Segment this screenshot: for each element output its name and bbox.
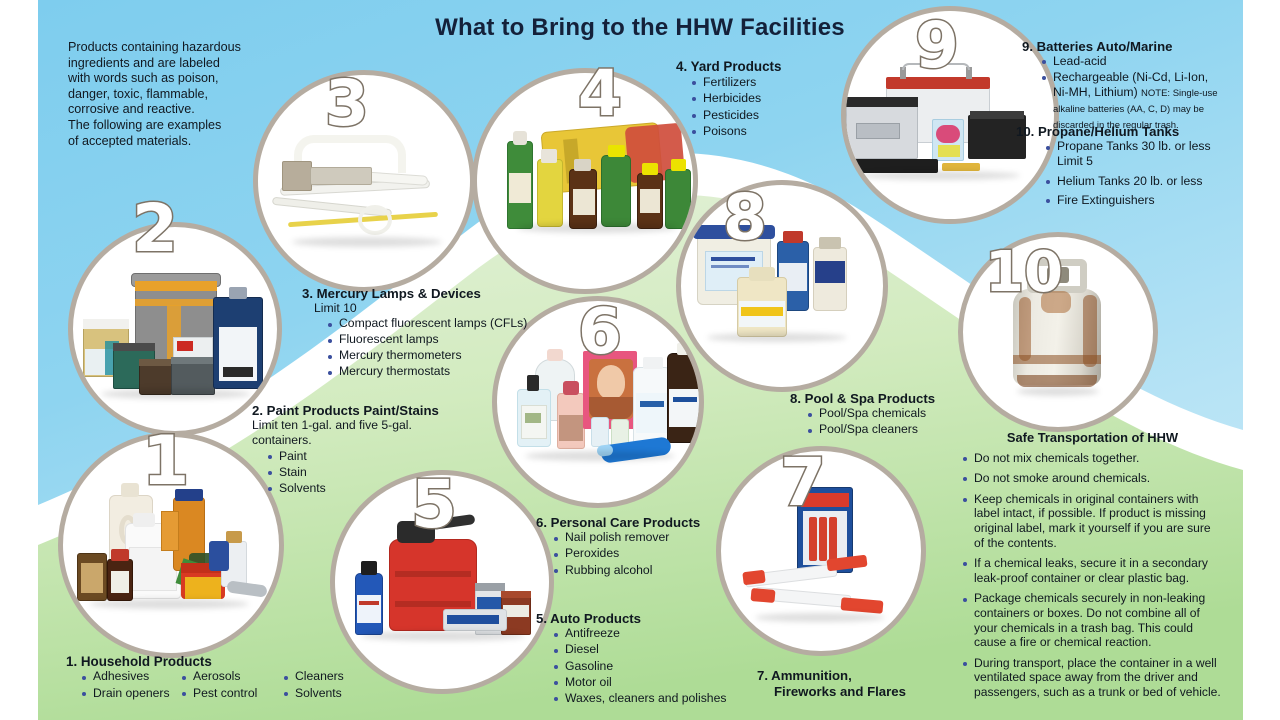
- intro-line: The following are examples: [68, 118, 268, 134]
- transport-line: Keep chemicals in original containers wi…: [974, 492, 1199, 506]
- list-item: Waxes, cleaners and polishes: [552, 691, 746, 706]
- section-3-heading: 3. Mercury Lamps & Devices: [302, 286, 537, 301]
- list-item: Fluorescent lamps: [326, 332, 537, 347]
- list-item: Aerosols: [180, 669, 282, 684]
- section-7-heading: 7. Ammunition,: [757, 668, 957, 684]
- list-item: Do not mix chemicals together.: [961, 451, 1230, 466]
- transport-line: containers or boxes. Do not combine all …: [974, 606, 1200, 620]
- list-item: Rubbing alcohol: [552, 563, 736, 578]
- intro-text: Products containing hazardous ingredient…: [68, 40, 268, 149]
- list-item: Mercury thermometers: [326, 348, 537, 363]
- list-item: Pool/Spa cleaners: [806, 422, 970, 437]
- section-9-text: 9. Batteries Auto/Marine Lead-acid Recha…: [1022, 39, 1232, 134]
- propane-line1: Propane Tanks 30 lb. or less: [1057, 139, 1211, 153]
- list-item: Keep chemicals in original containers wi…: [961, 492, 1230, 550]
- transport-line: leak-proof container or clear plastic ba…: [974, 571, 1189, 585]
- rechargeable-line1: Rechargeable (Ni-Cd, Li-Ion,: [1053, 70, 1208, 84]
- transport-line: If a chemical leaks, secure it in a seco…: [974, 556, 1208, 570]
- transport-line: cause a fire or chemical reaction.: [974, 635, 1151, 649]
- section-7-text: 7. Ammunition, Fireworks and Flares: [757, 668, 957, 700]
- list-item: If a chemical leaks, secure it in a seco…: [961, 556, 1230, 585]
- pool-spa-photo: [681, 185, 883, 387]
- section-6-text: 6. Personal Care Products Nail polish re…: [536, 515, 736, 579]
- propane-line2: Limit 5: [1057, 154, 1093, 168]
- section-7-heading-line2: Fireworks and Flares: [774, 684, 957, 700]
- circle-number-7: 7: [780, 450, 826, 516]
- intro-line: of accepted materials.: [68, 134, 268, 150]
- intro-line: danger, toxic, flammable,: [68, 87, 268, 103]
- circle-number-1: 1: [142, 428, 189, 496]
- list-item: Fertilizers: [690, 75, 856, 91]
- list-item: Compact fluorescent lamps (CFLs): [326, 316, 537, 331]
- transport-line: Do not smoke around chemicals.: [974, 471, 1150, 485]
- list-item: Nail polish remover: [552, 530, 736, 545]
- battery-note2: alkaline batteries (AA, C, D) may be: [1053, 104, 1204, 115]
- list-item: Adhesives: [80, 669, 180, 684]
- intro-line: corrosive and reactive.: [68, 102, 268, 118]
- intro-line: Products containing hazardous: [68, 40, 268, 56]
- infographic-poster: What to Bring to the HHW Facilities Prod…: [0, 0, 1280, 720]
- list-item: Helium Tanks 20 lb. or less: [1044, 174, 1232, 189]
- transport-line: ventilated space away from the driver an…: [974, 670, 1198, 684]
- household-col-3: Cleaners Solvents: [282, 669, 372, 702]
- section-5-heading: 5. Auto Products: [536, 611, 746, 626]
- list-item: Mercury thermostats: [326, 364, 537, 379]
- transport-line: original label, mark it yourself if you …: [974, 521, 1211, 535]
- section-4-heading: 4. Yard Products: [676, 59, 856, 75]
- list-item: Antifreeze: [552, 626, 746, 641]
- transport-line: During transport, place the container in…: [974, 656, 1217, 670]
- safe-transportation-heading: Safe Transportation of HHW: [955, 431, 1230, 446]
- household-col-2: Aerosols Pest control: [180, 669, 282, 702]
- circle-number-8: 8: [723, 186, 767, 249]
- list-item: Pool/Spa chemicals: [806, 406, 970, 421]
- circle-number-10: 10: [985, 245, 1063, 301]
- transport-line: passengers, such as a trunk or bed of ve…: [974, 685, 1221, 699]
- section-6-heading: 6. Personal Care Products: [536, 515, 736, 530]
- section-10-heading: 10. Propane/Helium Tanks: [1016, 124, 1232, 139]
- list-item: Motor oil: [552, 675, 746, 690]
- transport-line: Package chemicals securely in non-leakin…: [974, 591, 1205, 605]
- list-item: Herbicides: [690, 91, 856, 107]
- list-item: Diesel: [552, 642, 746, 657]
- section-1-heading: 1. Household Products: [66, 654, 400, 669]
- transport-line: label intact, if possible. If product is…: [974, 506, 1206, 520]
- page-title: What to Bring to the HHW Facilities: [0, 14, 1280, 42]
- list-item: Stain: [266, 465, 472, 480]
- section-3-text: 3. Mercury Lamps & Devices Limit 10 Comp…: [302, 286, 537, 381]
- circle-number-4: 4: [578, 62, 622, 125]
- intro-line: ingredients and are labeled: [68, 56, 268, 72]
- list-item: Pesticides: [690, 108, 856, 124]
- battery-note1: NOTE: Single-use: [1141, 88, 1218, 99]
- list-item: Solvents: [282, 686, 372, 701]
- list-item: Fire Extinguishers: [1044, 193, 1232, 208]
- list-item: Gasoline: [552, 659, 746, 674]
- transport-line: Do not mix chemicals together.: [974, 451, 1139, 465]
- section-8-heading: 8. Pool & Spa Products: [790, 391, 970, 406]
- list-item: Drain openers: [80, 686, 180, 701]
- section-2-heading: 2. Paint Products Paint/Stains: [252, 403, 472, 418]
- list-item: Paint: [266, 449, 472, 464]
- section-1-text: 1. Household Products Adhesives Drain op…: [60, 654, 400, 702]
- list-item: During transport, place the container in…: [961, 656, 1230, 700]
- section-4-text: 4. Yard Products Fertilizers Herbicides …: [676, 59, 856, 141]
- list-item: Solvents: [266, 481, 472, 496]
- section-2-sub: Limit ten 1-gal. and five 5-gal. contain…: [252, 418, 472, 448]
- photo-circle-8: [676, 180, 888, 392]
- list-item: Peroxides: [552, 546, 736, 561]
- intro-line: with words such as poison,: [68, 71, 268, 87]
- list-item: Package chemicals securely in non-leakin…: [961, 591, 1230, 649]
- list-item: Lead-acid: [1040, 54, 1232, 69]
- circle-number-3: 3: [325, 72, 369, 135]
- section-10-text: 10. Propane/Helium Tanks Propane Tanks 3…: [1016, 124, 1232, 209]
- circle-number-6: 6: [578, 300, 622, 363]
- transport-line: of the contents.: [974, 536, 1057, 550]
- section-2-text: 2. Paint Products Paint/Stains Limit ten…: [252, 403, 472, 497]
- household-col-1: Adhesives Drain openers: [80, 669, 180, 702]
- list-item: Do not smoke around chemicals.: [961, 471, 1230, 486]
- safe-transportation-block: Safe Transportation of HHW Do not mix ch…: [955, 431, 1230, 701]
- section-8-text: 8. Pool & Spa Products Pool/Spa chemical…: [790, 391, 970, 439]
- list-item: Propane Tanks 30 lb. or less Limit 5: [1044, 139, 1232, 169]
- transport-line: your chemicals in a trash bag. This coul…: [974, 621, 1193, 635]
- list-item: Pest control: [180, 686, 282, 701]
- list-item: Poisons: [690, 124, 856, 140]
- section-3-sub: Limit 10: [314, 301, 537, 316]
- list-item: Cleaners: [282, 669, 372, 684]
- rechargeable-line2: Ni-MH, Lithium): [1053, 85, 1138, 99]
- section-5-text: 5. Auto Products Antifreeze Diesel Gasol…: [536, 611, 746, 707]
- circle-number-2: 2: [132, 196, 178, 262]
